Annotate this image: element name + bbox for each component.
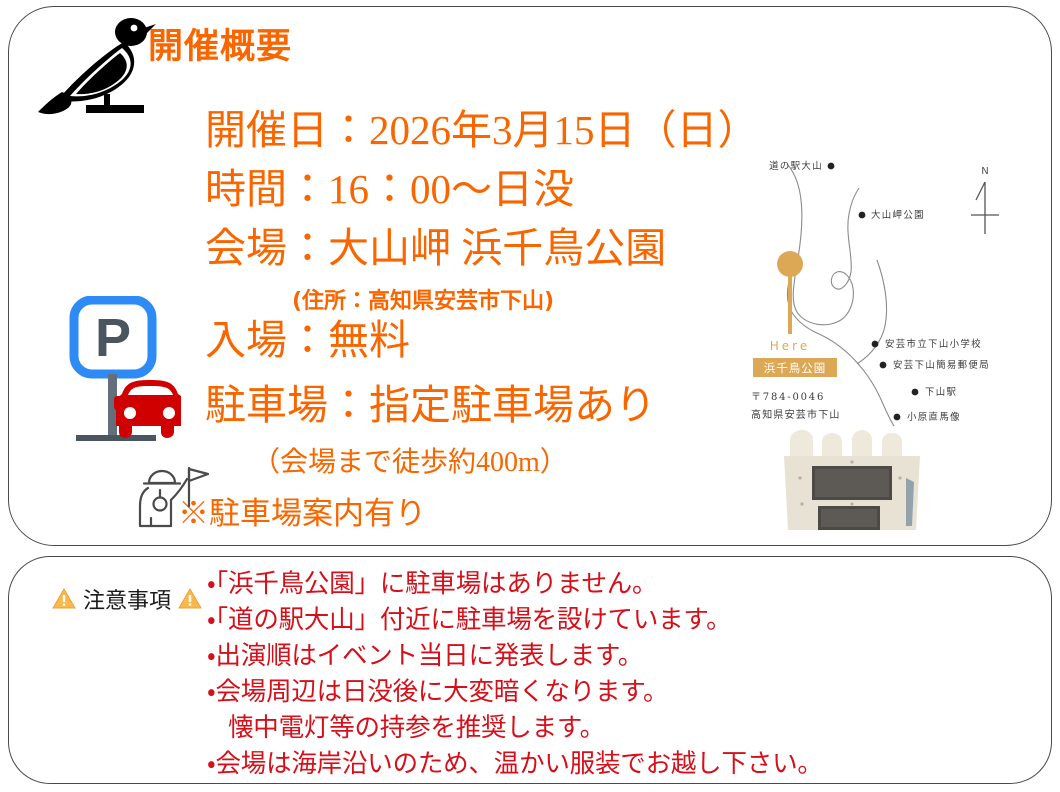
map-label-statue: 小原直馬像 bbox=[907, 411, 961, 423]
event-venue-line: 会場：大山岬 浜千鳥公園 bbox=[205, 214, 666, 274]
location-map: Here 浜千鳥公園 N 道の駅大山 大山岬公園 安芸市立下山小学校 安芸下山簡… bbox=[745, 152, 1013, 430]
map-postal-address: 高知県安芸市下山 bbox=[751, 408, 841, 421]
event-walk-note: （会場まで徒歩約400m） bbox=[252, 440, 568, 480]
map-label-oyamamisaki: 大山岬公園 bbox=[871, 209, 925, 221]
notice-item: ・「道の駅大山」付近に駐車場を設けています。 bbox=[207, 602, 1037, 638]
event-entry-line: 入場：無料 bbox=[205, 306, 410, 366]
map-label-station: 下山駅 bbox=[925, 387, 957, 398]
notice-item-text: ・会場は海岸沿いのため、温かい服装でお越し下さい。 bbox=[207, 749, 823, 779]
svg-text:N: N bbox=[981, 166, 988, 177]
svg-text:P: P bbox=[95, 308, 131, 368]
notice-item-continuation: 懐中電灯等の持参を推奨します。 bbox=[207, 710, 1037, 746]
parking-sign-and-car-icon: P bbox=[66, 296, 186, 444]
notice-item: ・「浜千鳥公園」に駐車場はありません。 bbox=[207, 566, 1037, 602]
notice-item-text: ・出演順はイベント当日に発表します。 bbox=[207, 641, 643, 671]
notice-item-text: ・会場周辺は日没後に大変暗くなります。 bbox=[207, 677, 668, 707]
notice-item: ・会場周辺は日没後に大変暗くなります。 懐中電灯等の持参を推奨します。 bbox=[207, 674, 1037, 746]
notice-item: ・出演順はイベント当日に発表します。 bbox=[207, 638, 1037, 674]
notice-list: ・「浜千鳥公園」に駐車場はありません。 ・「道の駅大山」付近に駐車場を設けていま… bbox=[207, 566, 1037, 782]
map-label-postoffice: 安芸下山簡易郵便局 bbox=[893, 359, 990, 371]
traffic-guide-person-icon bbox=[133, 466, 211, 532]
notice-item-text: ・「浜千鳥公園」に駐車場はありません。 bbox=[207, 569, 657, 599]
map-label-school: 安芸市立下山小学校 bbox=[885, 338, 982, 350]
notice-item-text: ・「道の駅大山」付近に駐車場を設けています。 bbox=[207, 605, 731, 635]
event-date-line: 開催日：2026年3月15日（日） bbox=[205, 96, 759, 156]
event-guide-note: ※駐車場案内有り bbox=[178, 488, 426, 533]
poster-page: 開催概要 開催日：2026年3月15日（日） 時間：16：00〜日没 会場：大山… bbox=[0, 0, 1060, 792]
event-time-line: 時間：16：00〜日没 bbox=[205, 155, 574, 215]
notice-title: 注意事項 bbox=[52, 583, 202, 615]
warning-triangle-icon-2 bbox=[178, 588, 202, 610]
svg-text:Here: Here bbox=[770, 339, 810, 353]
warning-triangle-icon bbox=[52, 588, 76, 610]
notice-title-label: 注意事項 bbox=[83, 583, 171, 615]
svg-text:浜千鳥公園: 浜千鳥公園 bbox=[764, 361, 827, 375]
stone-monument-photo bbox=[766, 426, 938, 534]
event-parking-line: 駐車場：指定駐車場あり bbox=[205, 371, 656, 431]
notice-item: ・会場は海岸沿いのため、温かい服装でお越し下さい。 bbox=[207, 746, 1037, 782]
map-postal-code: 〒784-0046 bbox=[751, 392, 825, 403]
plover-bird-icon bbox=[36, 8, 156, 120]
page-title: 開催概要 bbox=[148, 18, 292, 69]
map-label-michinoeki: 道の駅大山 bbox=[769, 160, 823, 172]
